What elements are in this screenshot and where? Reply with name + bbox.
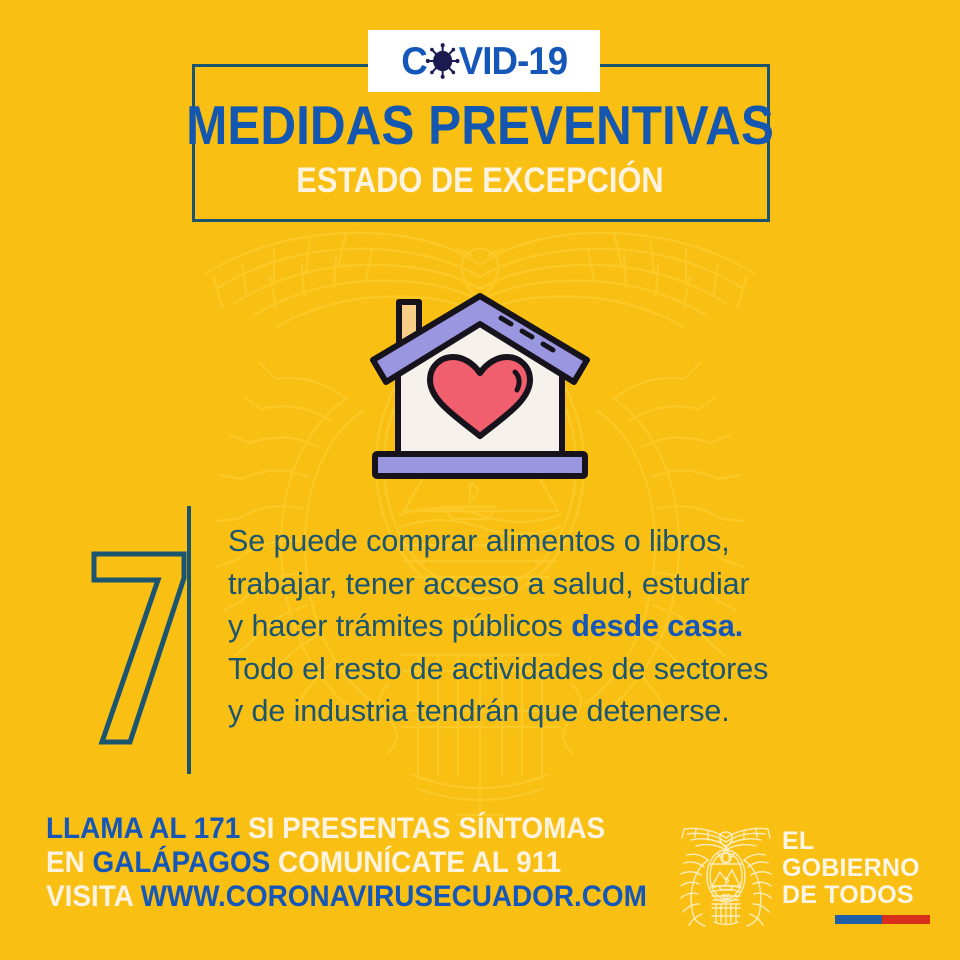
footer-line-2: EN GALÁPAGOS COMUNÍCATE AL 911 [46, 846, 567, 880]
gov-line-2: GOBIERNO [782, 855, 930, 882]
tricolor-blue [835, 915, 883, 924]
footer-line-1-text: SI PRESENTAS SÍNTOMAS [240, 812, 605, 845]
page-subtitle: ESTADO DE EXCEPCIÓN [58, 163, 903, 198]
tricolor-red [882, 915, 930, 924]
ecuador-coat-of-arms-icon [678, 824, 774, 928]
covid19-badge: C VID-19 [368, 30, 600, 92]
footer-line-2-post: COMUNÍCATE AL 911 [270, 846, 561, 879]
tricolor-yellow [782, 915, 835, 924]
footer-contact-info: LLAMA AL 171 SI PRESENTAS SÍNTOMAS EN GA… [46, 812, 567, 914]
paragraph-highlight: desde casa. [571, 609, 743, 643]
government-logo: EL GOBIERNO DE TODOS [678, 822, 928, 930]
house-with-heart-icon [367, 288, 593, 484]
footer-line-1: LLAMA AL 171 SI PRESENTAS SÍNTOMAS [46, 812, 567, 846]
paragraph-line-5: y de industria tendrán que detenerse. [228, 694, 730, 728]
footer-galapagos: GALÁPAGOS [93, 846, 271, 879]
footer-line-2-pre: EN [46, 846, 93, 879]
poster-canvas: C VID-19 MEDIDAS PREVEN [0, 0, 960, 960]
footer-visita-label: VISITA [46, 880, 141, 913]
measure-block: 7 Se puede comprar alimentos o libros, t… [0, 500, 960, 790]
paragraph-line-2: trabajar, tener acceso a salud, estudiar [228, 567, 750, 601]
footer-website-link[interactable]: WWW.CORONAVIRUSECUADOR.COM [141, 880, 647, 913]
ecuador-tricolor-bar [782, 915, 930, 924]
paragraph-line-3: y hacer trámites públicos [228, 609, 571, 643]
footer-phone-171: LLAMA AL 171 [46, 812, 240, 845]
covid-badge-prefix: C [401, 42, 427, 81]
measure-number: 7 [84, 548, 194, 748]
government-logo-text: EL GOBIERNO DE TODOS [782, 828, 930, 924]
paragraph-line-1: Se puede comprar alimentos o libros, [228, 524, 730, 558]
paragraph-line-4: Todo el resto de actividades de sectores [228, 652, 768, 686]
vertical-divider [187, 506, 191, 774]
coronavirus-icon [426, 43, 460, 79]
measure-paragraph: Se puede comprar alimentos o libros, tra… [228, 520, 888, 733]
gov-line-3: DE TODOS [782, 882, 930, 909]
page-title: MEDIDAS PREVENTIVAS [48, 98, 912, 153]
covid-badge-suffix: VID-19 [459, 42, 567, 81]
footer-line-3: VISITA WWW.CORONAVIRUSECUADOR.COM [46, 880, 567, 914]
gov-line-1: EL [782, 828, 930, 855]
